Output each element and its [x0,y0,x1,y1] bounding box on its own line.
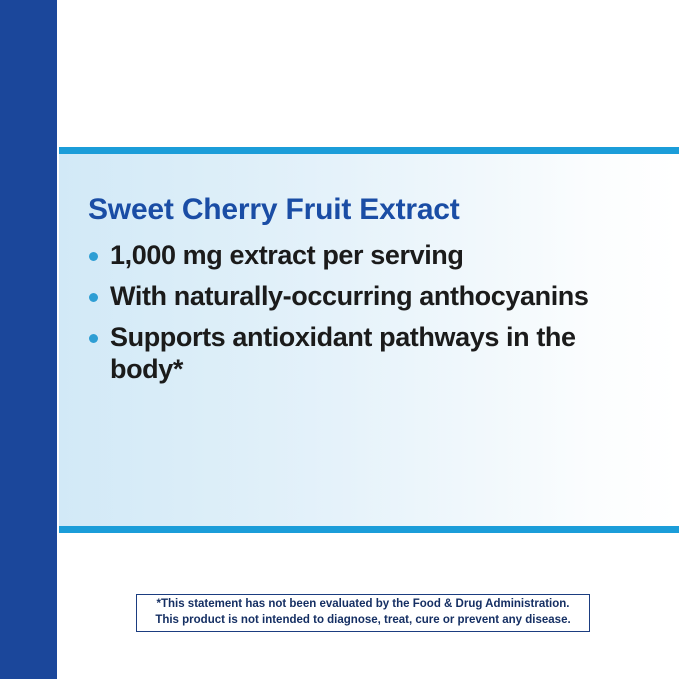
disclaimer-line-2: This product is not intended to diagnose… [155,613,570,629]
list-item: 1,000 mg extract per serving [88,239,648,271]
panel-top-rule [59,147,679,154]
bullet-dot-icon [89,252,98,261]
fda-disclaimer-box: *This statement has not been evaluated b… [136,594,590,632]
list-item: Supports antioxidant pathways in the bod… [88,321,648,385]
panel-bottom-rule [59,526,679,533]
list-item-label: With naturally-occurring anthocyanins [110,280,648,312]
page-title: Sweet Cherry Fruit Extract [88,193,648,227]
feature-panel-content: Sweet Cherry Fruit Extract 1,000 mg extr… [88,193,648,385]
list-item-label: 1,000 mg extract per serving [110,239,648,271]
disclaimer-line-1: *This statement has not been evaluated b… [157,597,570,613]
bullet-dot-icon [89,293,98,302]
left-accent-bar [0,0,57,679]
bullet-dot-icon [89,334,98,343]
list-item: With naturally-occurring anthocyanins [88,280,648,312]
feature-bullet-list: 1,000 mg extract per serving With natura… [88,239,648,386]
product-feature-card: Sweet Cherry Fruit Extract 1,000 mg extr… [0,0,679,679]
list-item-label: Supports antioxidant pathways in the bod… [110,321,648,385]
